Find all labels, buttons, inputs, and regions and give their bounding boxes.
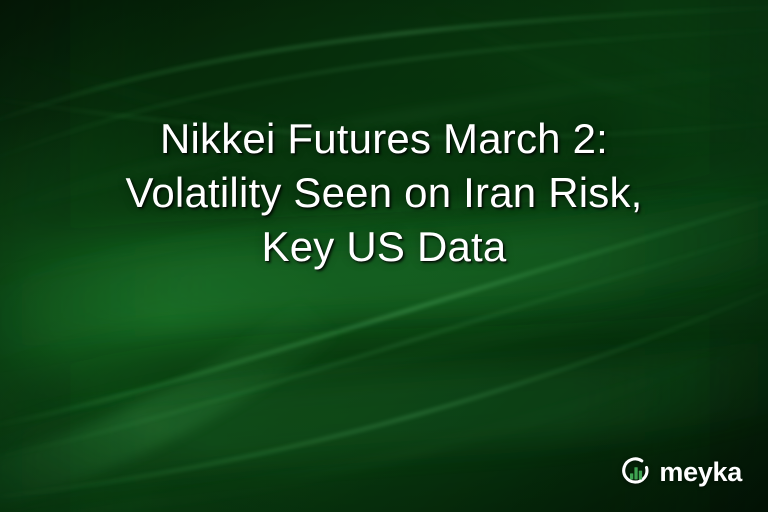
meyka-circle-bars-icon [620, 456, 652, 488]
page-title: Nikkei Futures March 2: Volatility Seen … [0, 112, 768, 274]
title-line-3: Key US Data [28, 220, 740, 274]
title-line-2: Volatility Seen on Iran Risk, [28, 166, 740, 220]
meyka-wordmark: meyka [659, 459, 742, 486]
title-line-1: Nikkei Futures March 2: [28, 112, 740, 166]
social-card: Nikkei Futures March 2: Volatility Seen … [0, 0, 768, 512]
meyka-logo[interactable]: meyka [620, 456, 742, 488]
